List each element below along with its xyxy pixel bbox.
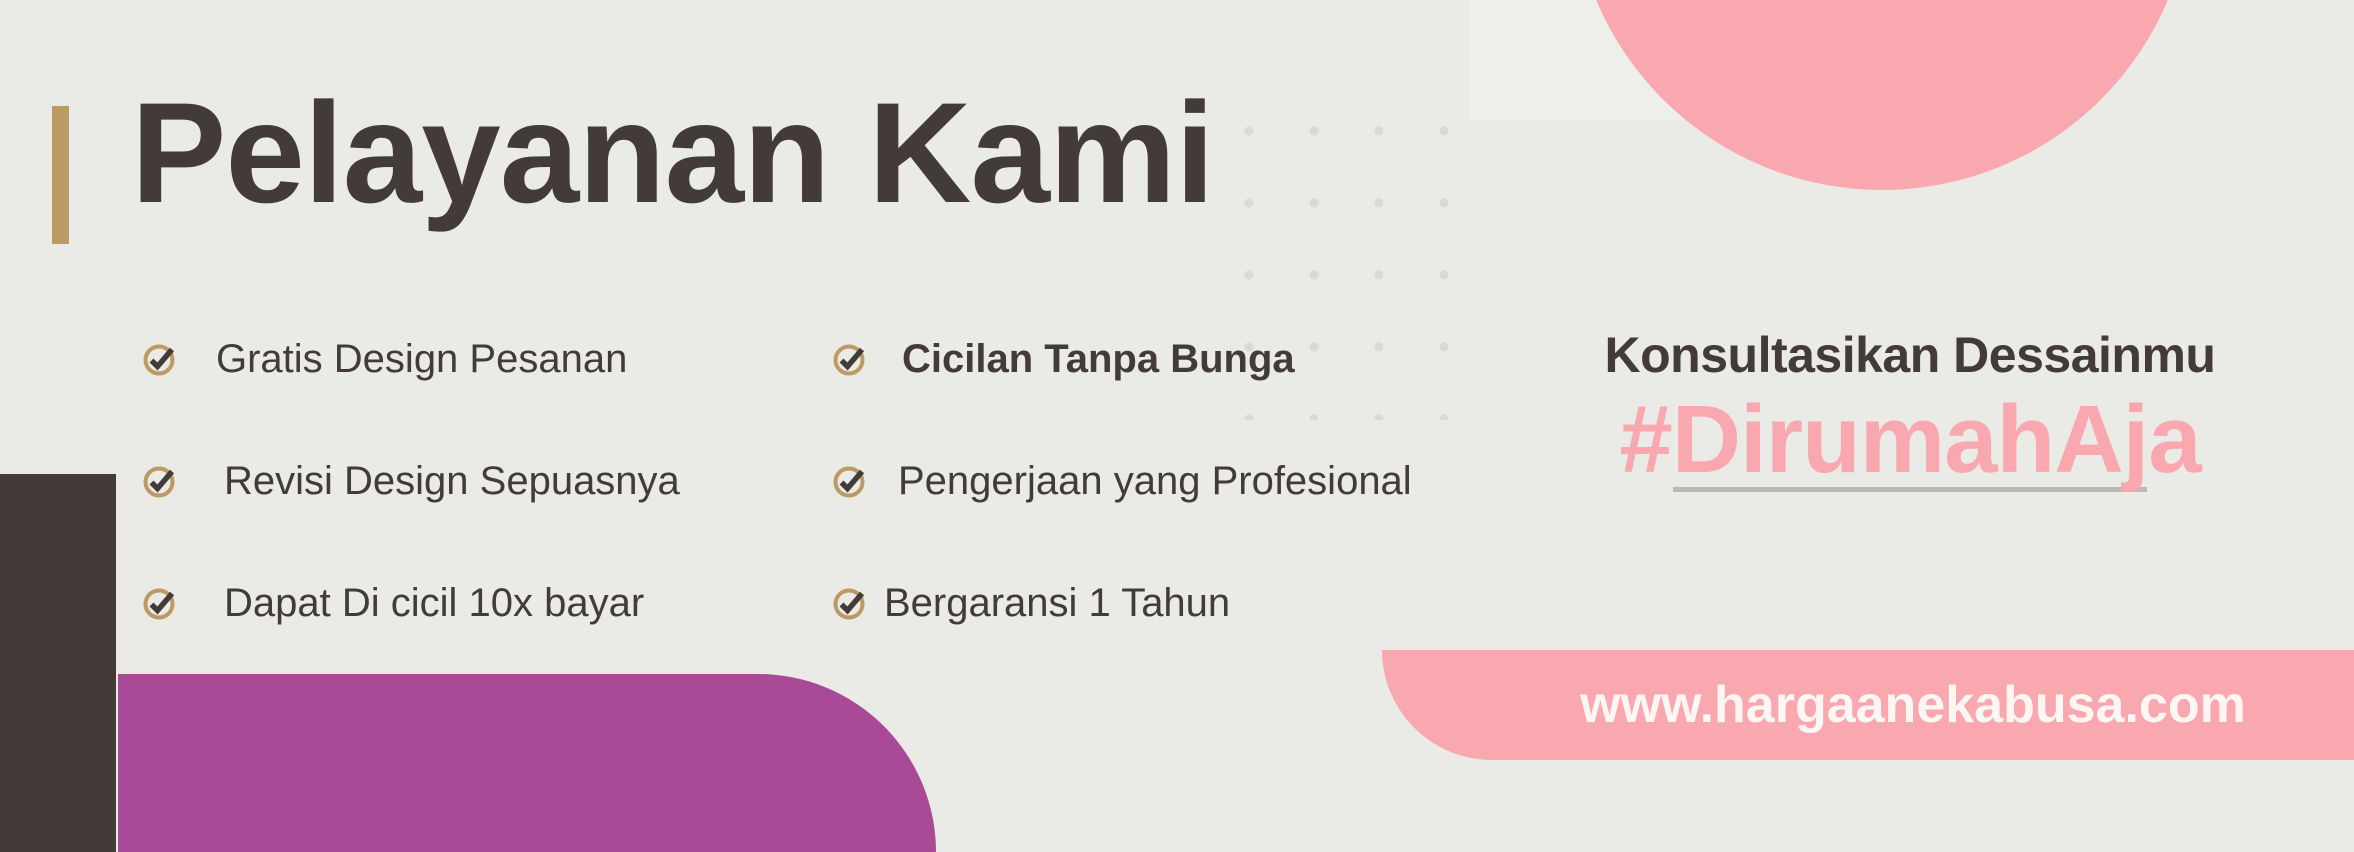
feature-list-right: Cicilan Tanpa Bunga Pengerjaan yang Prof…	[832, 328, 1472, 634]
page-title: Pelayanan Kami	[131, 82, 1214, 225]
list-item-label: Cicilan Tanpa Bunga	[884, 337, 1295, 382]
list-item[interactable]: Gratis Design Pesanan	[142, 328, 762, 390]
promo-headline: Konsultasikan Dessainmu	[1490, 326, 2330, 384]
promo-block: Konsultasikan Dessainmu #DirumahAja	[1490, 326, 2330, 492]
list-item[interactable]: Pengerjaan yang Profesional	[832, 450, 1472, 512]
list-item-label: Gratis Design Pesanan	[194, 337, 627, 382]
check-circle-icon	[142, 462, 180, 500]
list-item-label: Dapat Di cicil 10x bayar	[194, 581, 644, 626]
title-accent-bar	[52, 106, 69, 244]
list-item[interactable]: Dapat Di cicil 10x bayar	[142, 572, 762, 634]
promo-hashtag: #DirumahAja	[1490, 390, 2330, 491]
list-item[interactable]: Bergaransi 1 Tahun	[832, 572, 1472, 634]
list-item-label: Revisi Design Sepuasnya	[194, 459, 680, 504]
list-item[interactable]: Revisi Design Sepuasnya	[142, 450, 762, 512]
banner-header: Pelayanan Kami	[52, 82, 1214, 244]
check-circle-icon	[142, 584, 180, 622]
feature-list-left: Gratis Design Pesanan Revisi Design Sepu…	[142, 328, 762, 634]
services-banner: Pelayanan Kami Gratis Design Pesanan Rev…	[0, 0, 2354, 852]
dark-block-decoration	[0, 474, 116, 852]
purple-block-decoration	[118, 674, 936, 852]
pink-circle-decoration	[1572, 0, 2192, 190]
list-item[interactable]: Cicilan Tanpa Bunga	[832, 328, 1472, 390]
list-item-label: Pengerjaan yang Profesional	[884, 459, 1412, 504]
website-url[interactable]: www.hargaanekabusa.com	[1382, 650, 2354, 760]
check-circle-icon	[832, 462, 870, 500]
list-item-label: Bergaransi 1 Tahun	[884, 581, 1230, 626]
check-circle-icon	[832, 340, 870, 378]
check-circle-icon	[142, 340, 180, 378]
check-circle-icon	[832, 584, 870, 622]
